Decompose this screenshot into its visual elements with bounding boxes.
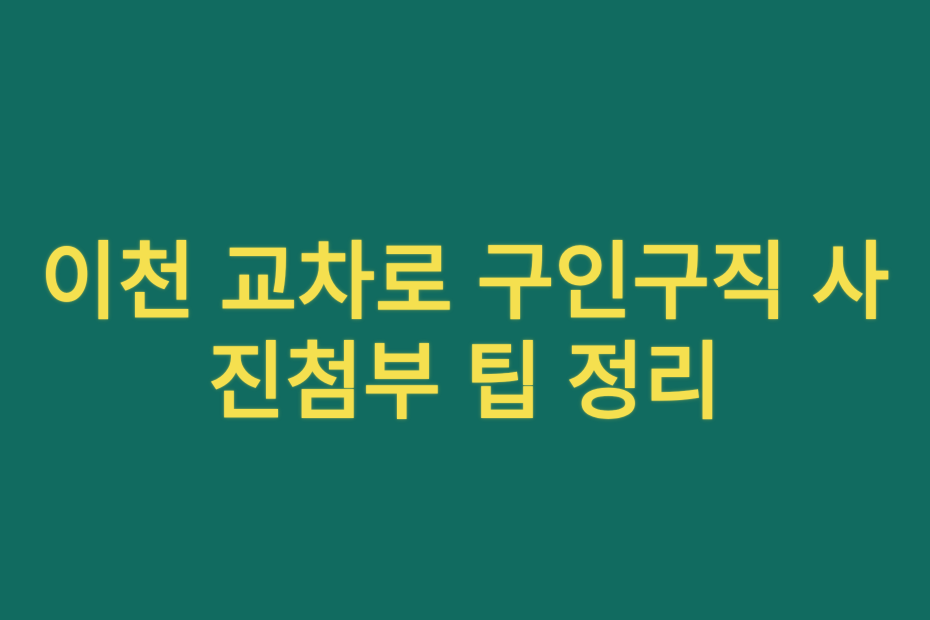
headline-block: 이천 교차로 구인구직 사 진첨부 팁 정리 xyxy=(0,232,930,432)
headline-line-1: 이천 교차로 구인구직 사 xyxy=(24,232,906,332)
headline-line-2: 진첨부 팁 정리 xyxy=(24,332,906,432)
title-card: 이천 교차로 구인구직 사 진첨부 팁 정리 xyxy=(0,0,930,620)
